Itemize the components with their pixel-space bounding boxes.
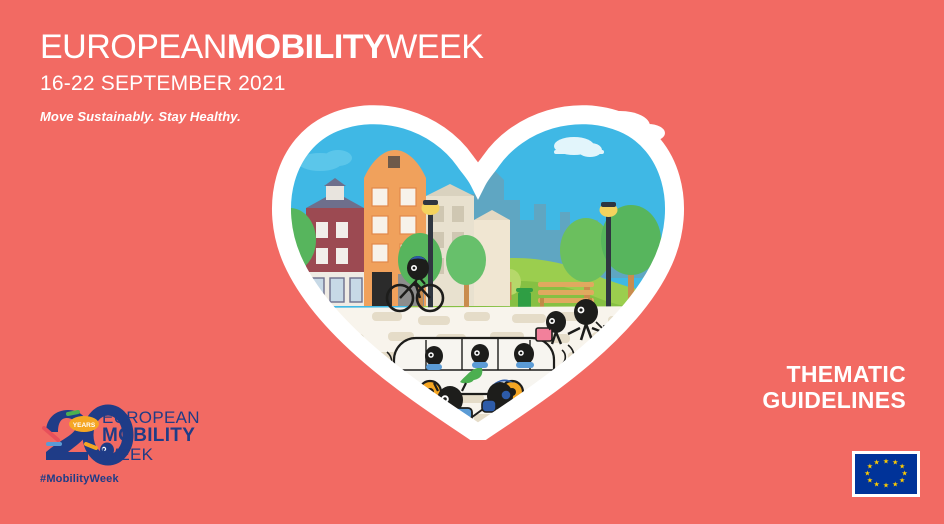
eu-star-icon: ★	[874, 481, 880, 488]
eu-star-icon: ★	[867, 477, 873, 484]
thematic-line-1: THEMATIC	[762, 362, 906, 388]
hashtag-label: #MobilityWeek	[40, 473, 119, 485]
thematic-line-2: GUIDELINES	[762, 388, 906, 414]
event-dates: 16-22 SEPTEMBER 2021	[40, 73, 483, 94]
eu-flag: ★ ★ ★ ★ ★ ★ ★ ★ ★ ★ ★ ★	[852, 451, 920, 497]
eu-star-icon: ★	[892, 460, 898, 467]
eu-star-icon: ★	[883, 483, 889, 490]
title-mobility: MOBILITY	[227, 28, 385, 66]
thematic-guidelines-label: THEMATIC GUIDELINES	[762, 362, 906, 414]
eu-star-icon: ★	[867, 464, 873, 471]
title-european: EUROPEAN	[40, 28, 227, 66]
eu-star-icon: ★	[864, 471, 870, 478]
logo-years-label: YEARS	[73, 422, 96, 429]
page-title: EUROPEANMOBILITYWEEK	[40, 30, 483, 64]
title-week: WEEK	[385, 28, 483, 66]
poster-canvas: EUROPEANMOBILITYWEEK 16-22 SEPTEMBER 202…	[0, 0, 944, 524]
logo-line-mobility: MOBILITY	[102, 426, 200, 445]
eu-star-icon: ★	[892, 481, 898, 488]
eu-star-icon: ★	[899, 477, 905, 484]
heart-illustration	[268, 100, 688, 440]
emw-logo-text: EUROPEAN MOBILITY WEEK	[102, 409, 200, 463]
scene	[268, 100, 688, 440]
eu-flag-field: ★ ★ ★ ★ ★ ★ ★ ★ ★ ★ ★ ★	[855, 454, 917, 494]
logo-line-european: EUROPEAN	[102, 409, 200, 426]
logo-line-week: WEEK	[102, 446, 200, 463]
eu-star-icon: ★	[874, 460, 880, 467]
eu-star-icon: ★	[883, 459, 889, 466]
